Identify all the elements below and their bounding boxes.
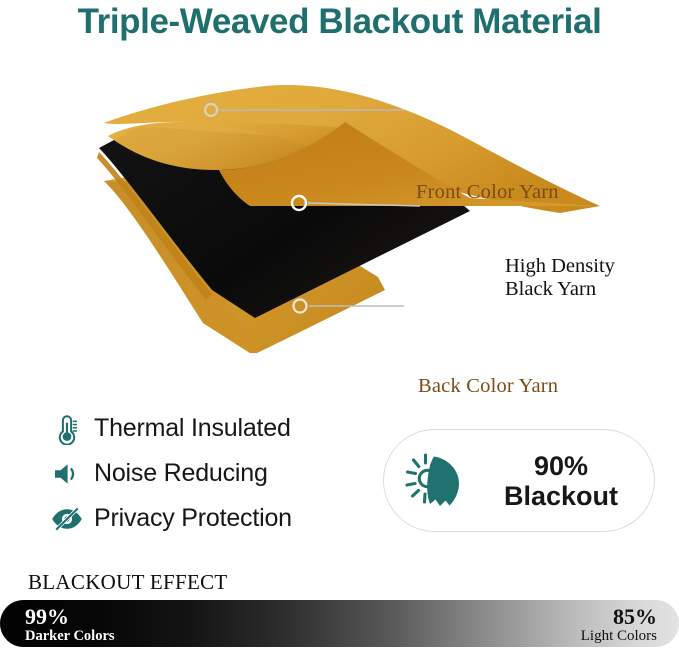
feature-label: Thermal Insulated <box>94 414 291 443</box>
label-black-line-2: Black Yarn <box>505 278 615 301</box>
fabric-layers-diagram: Front Color Yarn High Density Black Yarn… <box>0 78 679 353</box>
sun-behind-curtain-icon <box>398 448 478 514</box>
label-front-color-yarn: Front Color Yarn <box>416 181 559 204</box>
blackout-badge-text: 90% Blackout <box>478 451 654 511</box>
effect-darker-colors: 99% Darker Colors <box>25 605 115 645</box>
feature-label: Privacy Protection <box>94 504 292 533</box>
blackout-percentage-badge: 90% Blackout <box>383 429 655 532</box>
label-black-line-1: High Density <box>505 255 615 278</box>
effect-light-colors: 85% Light Colors <box>581 605 657 645</box>
blackout-percent: 90% <box>534 451 588 481</box>
eye-off-icon <box>46 502 88 536</box>
label-high-density-black-yarn: High Density Black Yarn <box>505 255 615 301</box>
blackout-effect-heading: BLACKOUT EFFECT <box>28 570 228 595</box>
page-title: Triple-Weaved Blackout Material <box>0 2 679 42</box>
effect-darker-percent: 99% <box>25 605 115 628</box>
feature-label: Noise Reducing <box>94 459 268 488</box>
label-back-color-yarn: Back Color Yarn <box>418 375 558 398</box>
speaker-sound-icon <box>46 457 88 491</box>
effect-darker-label: Darker Colors <box>25 628 115 645</box>
effect-light-percent: 85% <box>581 605 657 628</box>
feature-thermal-insulated: Thermal Insulated <box>46 406 366 451</box>
thermometer-icon <box>46 412 88 446</box>
blackout-effect-gradient-bar: 99% Darker Colors 85% Light Colors <box>0 600 679 647</box>
feature-privacy-protection: Privacy Protection <box>46 496 366 541</box>
feature-list: Thermal Insulated Noise Reducing Privacy… <box>46 406 366 541</box>
effect-light-label: Light Colors <box>581 628 657 645</box>
blackout-word: Blackout <box>504 481 618 511</box>
feature-noise-reducing: Noise Reducing <box>46 451 366 496</box>
